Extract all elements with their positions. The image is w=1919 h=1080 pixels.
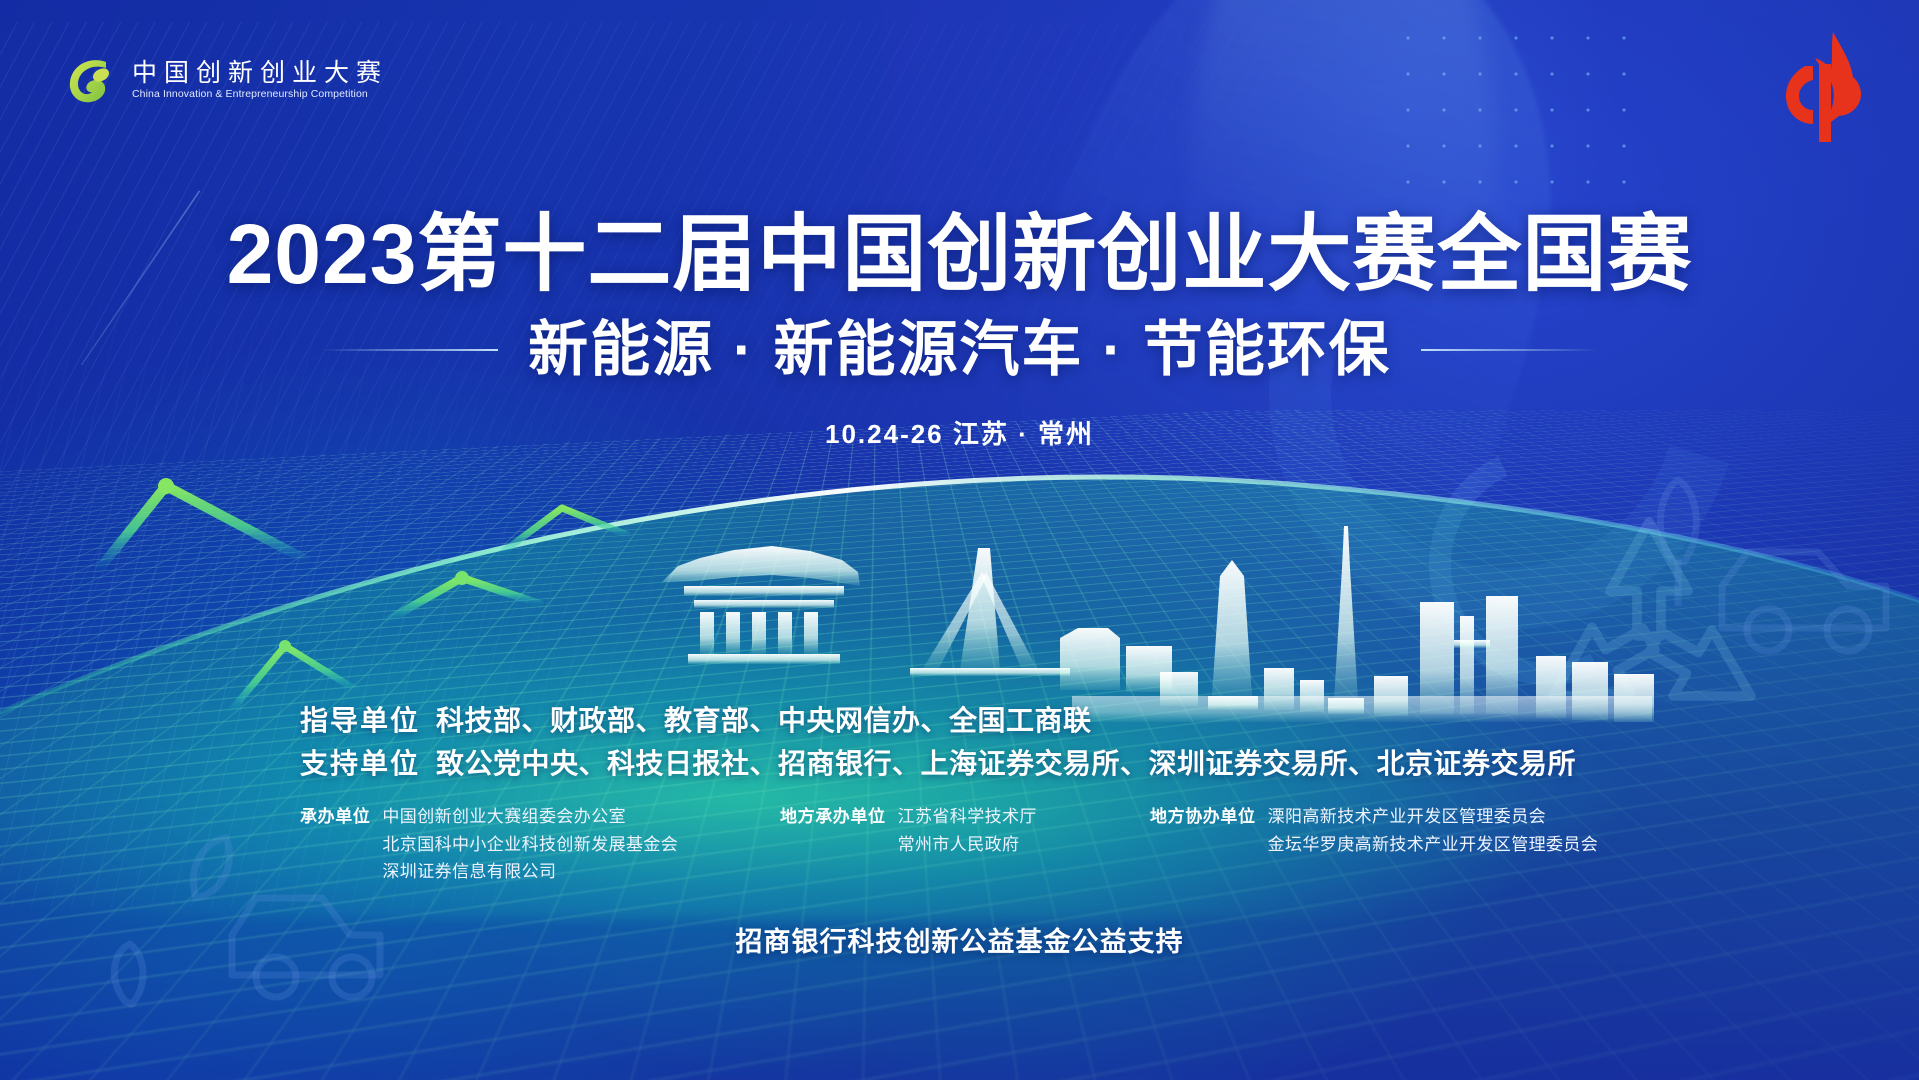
list-item: 深圳证券信息有限公司 <box>382 858 678 886</box>
organizer-column-host: 承办单位 中国创新创业大赛组委会办公室 北京国科中小企业科技创新发展基金会 深圳… <box>300 803 780 886</box>
supporting-units-label: 支持单位 <box>300 743 420 786</box>
logo-chinese-name: 中国创新创业大赛 <box>132 61 388 86</box>
supporting-units-row: 支持单位 致公党中央、科技日报社、招商银行、上海证券交易所、深圳证券交易所、北京… <box>300 743 1919 786</box>
organizer-column-local-coorganizer: 地方协办单位 溧阳高新技术产业开发区管理委员会 金坛华罗庚高新技术产业开发区管理… <box>1150 803 1739 886</box>
footer-sponsor-note: 招商银行科技创新公益基金公益支持 <box>0 920 1919 959</box>
host-units-label: 承办单位 <box>300 803 370 831</box>
subtitle-rule-right <box>1421 349 1599 351</box>
local-host-units-label: 地方承办单位 <box>780 803 886 831</box>
guiding-units-value: 科技部、财政部、教育部、中央网信办、全国工商联 <box>436 700 1092 743</box>
date-location-text: 10.24-26 江苏 · 常州 <box>0 414 1919 451</box>
background-dot-grid <box>1390 20 1640 190</box>
poster-canvas: 中国创新创业大赛 China Innovation & Entrepreneur… <box>0 0 1919 1080</box>
local-coorganizer-units-values: 溧阳高新技术产业开发区管理委员会 金坛华罗庚高新技术产业开发区管理委员会 <box>1268 803 1599 858</box>
leaf-logo-icon <box>62 52 118 108</box>
organizer-major-lines: 指导单位 科技部、财政部、教育部、中央网信办、全国工商联 支持单位 致公党中央、… <box>0 700 1919 785</box>
guiding-units-row: 指导单位 科技部、财政部、教育部、中央网信办、全国工商联 <box>300 700 1919 743</box>
title-block: 2023第十二届中国创新创业大赛全国赛 新能源 · 新能源汽车 · 节能环保 1… <box>0 212 1919 451</box>
list-item: 中国创新创业大赛组委会办公室 <box>382 803 678 831</box>
competition-logo-text: 中国创新创业大赛 China Innovation & Entrepreneur… <box>132 61 388 100</box>
page-title: 2023第十二届中国创新创业大赛全国赛 <box>0 212 1919 296</box>
subtitle-row: 新能源 · 新能源汽车 · 节能环保 <box>0 320 1919 380</box>
list-item: 北京国科中小企业科技创新发展基金会 <box>382 831 678 859</box>
local-host-units-values: 江苏省科学技术厅 常州市人民政府 <box>898 803 1037 858</box>
organizer-section: 指导单位 科技部、财政部、教育部、中央网信办、全国工商联 支持单位 致公党中央、… <box>0 700 1919 886</box>
page-subtitle: 新能源 · 新能源汽车 · 节能环保 <box>528 320 1391 380</box>
cip-flame-logo-icon <box>1775 30 1871 150</box>
list-item: 金坛华罗庚高新技术产业开发区管理委员会 <box>1268 831 1599 859</box>
subtitle-rule-left <box>320 349 498 351</box>
host-units-values: 中国创新创业大赛组委会办公室 北京国科中小企业科技创新发展基金会 深圳证券信息有… <box>382 803 678 886</box>
competition-logo: 中国创新创业大赛 China Innovation & Entrepreneur… <box>62 52 388 108</box>
organizer-columns: 承办单位 中国创新创业大赛组委会办公室 北京国科中小企业科技创新发展基金会 深圳… <box>0 803 1919 886</box>
list-item: 溧阳高新技术产业开发区管理委员会 <box>1268 803 1599 831</box>
list-item: 常州市人民政府 <box>898 831 1037 859</box>
supporting-units-value: 致公党中央、科技日报社、招商银行、上海证券交易所、深圳证券交易所、北京证券交易所 <box>436 743 1576 786</box>
guiding-units-label: 指导单位 <box>300 700 420 743</box>
list-item: 江苏省科学技术厅 <box>898 803 1037 831</box>
logo-english-name: China Innovation & Entrepreneurship Comp… <box>132 89 388 100</box>
organizer-column-local-host: 地方承办单位 江苏省科学技术厅 常州市人民政府 <box>780 803 1150 886</box>
local-coorganizer-units-label: 地方协办单位 <box>1150 803 1256 831</box>
